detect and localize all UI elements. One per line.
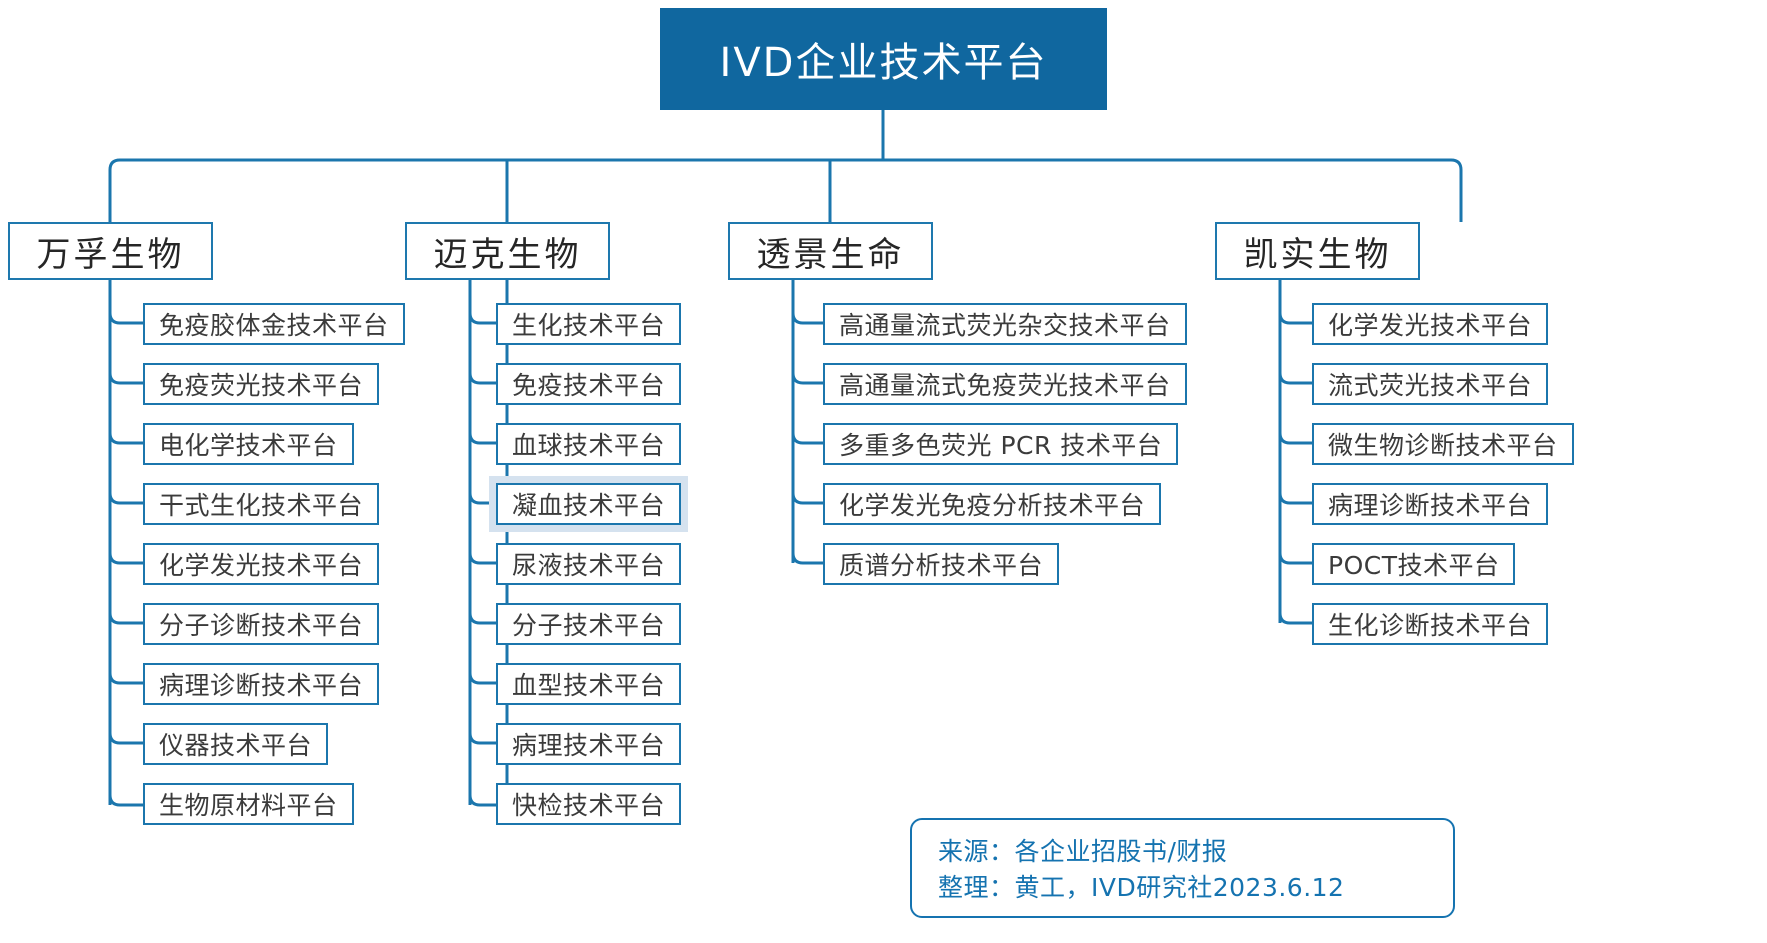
leaf-node-c3-3-label: 多重多色荧光 PCR 技术平台 bbox=[839, 426, 1162, 462]
leaf-node-c1-9[interactable]: 生物原材料平台 bbox=[143, 783, 354, 825]
leaf-node-c4-2[interactable]: 流式荧光技术平台 bbox=[1312, 363, 1548, 405]
leaf-node-c3-4[interactable]: 化学发光免疫分析技术平台 bbox=[823, 483, 1161, 525]
leaf-node-c2-4-label: 凝血技术平台 bbox=[512, 486, 665, 522]
leaf-node-c1-8[interactable]: 仪器技术平台 bbox=[143, 723, 328, 765]
leaf-node-c2-9[interactable]: 快检技术平台 bbox=[496, 783, 681, 825]
source-note: 来源：各企业招股书/财报 整理：黄工，IVD研究社2023.6.12 bbox=[910, 818, 1455, 918]
leaf-node-c2-8-label: 病理技术平台 bbox=[512, 726, 665, 762]
leaf-node-c2-3[interactable]: 血球技术平台 bbox=[496, 423, 681, 465]
leaf-node-c1-8-label: 仪器技术平台 bbox=[159, 726, 312, 762]
source-note-line-2: 整理：黄工，IVD研究社2023.6.12 bbox=[938, 870, 1453, 906]
company-node-2[interactable]: 迈克生物 bbox=[405, 222, 610, 280]
leaf-node-c1-7-label: 病理诊断技术平台 bbox=[159, 666, 363, 702]
leaf-node-c4-1-label: 化学发光技术平台 bbox=[1328, 306, 1532, 342]
leaf-node-c2-6[interactable]: 分子技术平台 bbox=[496, 603, 681, 645]
leaf-node-c4-5[interactable]: POCT技术平台 bbox=[1312, 543, 1515, 585]
leaf-node-c2-1[interactable]: 生化技术平台 bbox=[496, 303, 681, 345]
leaf-node-c1-5[interactable]: 化学发光技术平台 bbox=[143, 543, 379, 585]
leaf-node-c3-1[interactable]: 高通量流式荧光杂交技术平台 bbox=[823, 303, 1187, 345]
company-node-1-label: 万孚生物 bbox=[37, 227, 185, 276]
company-node-1[interactable]: 万孚生物 bbox=[8, 222, 213, 280]
leaf-node-c1-5-label: 化学发光技术平台 bbox=[159, 546, 363, 582]
leaf-node-c1-9-label: 生物原材料平台 bbox=[159, 786, 338, 822]
leaf-node-c4-4[interactable]: 病理诊断技术平台 bbox=[1312, 483, 1548, 525]
leaf-node-c3-2-label: 高通量流式免疫荧光技术平台 bbox=[839, 366, 1171, 402]
leaf-node-c1-4[interactable]: 干式生化技术平台 bbox=[143, 483, 379, 525]
company-node-3[interactable]: 透景生命 bbox=[728, 222, 933, 280]
company-node-3-label: 透景生命 bbox=[757, 227, 905, 276]
leaf-node-c4-2-label: 流式荧光技术平台 bbox=[1328, 366, 1532, 402]
leaf-node-c2-6-label: 分子技术平台 bbox=[512, 606, 665, 642]
leaf-node-c1-6[interactable]: 分子诊断技术平台 bbox=[143, 603, 379, 645]
leaf-node-c2-5-label: 尿液技术平台 bbox=[512, 546, 665, 582]
leaf-node-c2-9-label: 快检技术平台 bbox=[512, 786, 665, 822]
leaf-node-c3-4-label: 化学发光免疫分析技术平台 bbox=[839, 486, 1145, 522]
leaf-node-c1-3[interactable]: 电化学技术平台 bbox=[143, 423, 354, 465]
leaf-node-c1-1-label: 免疫胶体金技术平台 bbox=[159, 306, 389, 342]
leaf-node-c2-7-label: 血型技术平台 bbox=[512, 666, 665, 702]
leaf-node-c1-4-label: 干式生化技术平台 bbox=[159, 486, 363, 522]
leaf-node-c1-3-label: 电化学技术平台 bbox=[159, 426, 338, 462]
leaf-node-c3-3[interactable]: 多重多色荧光 PCR 技术平台 bbox=[823, 423, 1178, 465]
company-node-4-label: 凯实生物 bbox=[1244, 227, 1392, 276]
company-node-4[interactable]: 凯实生物 bbox=[1215, 222, 1420, 280]
leaf-node-c2-2-label: 免疫技术平台 bbox=[512, 366, 665, 402]
leaf-node-c4-3[interactable]: 微生物诊断技术平台 bbox=[1312, 423, 1574, 465]
leaf-node-c1-1[interactable]: 免疫胶体金技术平台 bbox=[143, 303, 405, 345]
leaf-node-c2-8[interactable]: 病理技术平台 bbox=[496, 723, 681, 765]
leaf-node-c4-6-label: 生化诊断技术平台 bbox=[1328, 606, 1532, 642]
leaf-node-c4-5-label: POCT技术平台 bbox=[1328, 546, 1499, 582]
leaf-node-c3-2[interactable]: 高通量流式免疫荧光技术平台 bbox=[823, 363, 1187, 405]
leaf-node-c1-6-label: 分子诊断技术平台 bbox=[159, 606, 363, 642]
leaf-node-c1-7[interactable]: 病理诊断技术平台 bbox=[143, 663, 379, 705]
org-chart-canvas: IVD企业技术平台 万孚生物 迈克生物 透景生命 凯实生物 免疫胶体金技术平台 … bbox=[0, 0, 1767, 943]
leaf-node-c1-2-label: 免疫荧光技术平台 bbox=[159, 366, 363, 402]
company-node-2-label: 迈克生物 bbox=[434, 227, 582, 276]
root-node[interactable]: IVD企业技术平台 bbox=[660, 8, 1107, 110]
leaf-node-c4-1[interactable]: 化学发光技术平台 bbox=[1312, 303, 1548, 345]
leaf-node-c2-7[interactable]: 血型技术平台 bbox=[496, 663, 681, 705]
leaf-node-c3-5-label: 质谱分析技术平台 bbox=[839, 546, 1043, 582]
leaf-node-c3-1-label: 高通量流式荧光杂交技术平台 bbox=[839, 306, 1171, 342]
leaf-node-c2-5[interactable]: 尿液技术平台 bbox=[496, 543, 681, 585]
leaf-node-c4-4-label: 病理诊断技术平台 bbox=[1328, 486, 1532, 522]
leaf-node-c2-2[interactable]: 免疫技术平台 bbox=[496, 363, 681, 405]
leaf-node-c4-3-label: 微生物诊断技术平台 bbox=[1328, 426, 1558, 462]
source-note-line-1: 来源：各企业招股书/财报 bbox=[938, 834, 1453, 870]
leaf-node-c2-3-label: 血球技术平台 bbox=[512, 426, 665, 462]
leaf-node-c2-4[interactable]: 凝血技术平台 bbox=[496, 483, 681, 525]
leaf-node-c2-1-label: 生化技术平台 bbox=[512, 306, 665, 342]
leaf-node-c1-2[interactable]: 免疫荧光技术平台 bbox=[143, 363, 379, 405]
leaf-node-c3-5[interactable]: 质谱分析技术平台 bbox=[823, 543, 1059, 585]
leaf-node-c4-6[interactable]: 生化诊断技术平台 bbox=[1312, 603, 1548, 645]
root-node-label: IVD企业技术平台 bbox=[720, 30, 1048, 88]
